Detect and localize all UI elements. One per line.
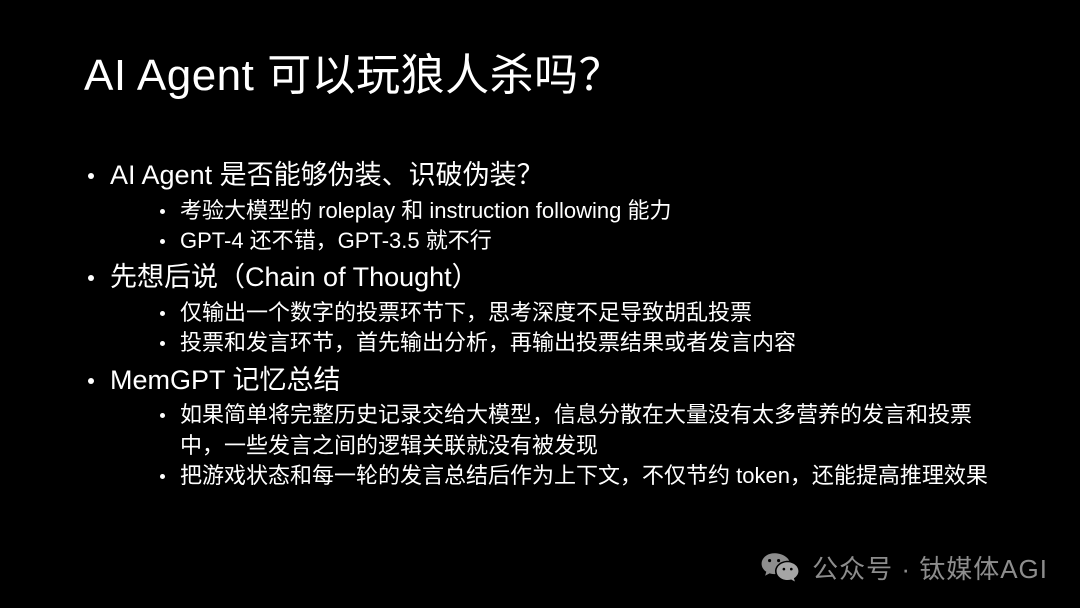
sub-bullet-item: GPT-4 还不错，GPT-3.5 就不行: [154, 226, 1014, 256]
sub-bullet-item: 仅输出一个数字的投票环节下，思考深度不足导致胡乱投票: [154, 298, 1014, 328]
sub-bullet-item: 如果简单将完整历史记录交给大模型，信息分散在大量没有太多营养的发言和投票中，一些…: [154, 400, 1014, 461]
bullet-text: MemGPT 记忆总结: [110, 363, 1014, 399]
sub-bullet-item: 把游戏状态和每一轮的发言总结后作为上下文，不仅节约 token，还能提高推理效果: [154, 461, 1014, 491]
bullet-item-2: 先想后说（Chain of Thought） 仅输出一个数字的投票环节下，思考深…: [84, 260, 1014, 358]
bullet-item-3: MemGPT 记忆总结 如果简单将完整历史记录交给大模型，信息分散在大量没有太多…: [84, 363, 1014, 492]
bullet-text: AI Agent 是否能够伪装、识破伪装？: [110, 158, 1014, 194]
sub-bullet-group-2: 仅输出一个数字的投票环节下，思考深度不足导致胡乱投票 投票和发言环节，首先输出分…: [110, 298, 1014, 359]
bullet-item-1: AI Agent 是否能够伪装、识破伪装？ 考验大模型的 roleplay 和 …: [84, 158, 1014, 256]
wechat-icon: [760, 551, 800, 585]
bullet-list-level1: AI Agent 是否能够伪装、识破伪装？ 考验大模型的 roleplay 和 …: [84, 158, 1014, 491]
bullet-list-level2: 仅输出一个数字的投票环节下，思考深度不足导致胡乱投票 投票和发言环节，首先输出分…: [154, 298, 1014, 359]
bullet-list-level2: 如果简单将完整历史记录交给大模型，信息分散在大量没有太多营养的发言和投票中，一些…: [154, 400, 1014, 491]
slide-canvas: AI Agent 可以玩狼人杀吗？ AI Agent 是否能够伪装、识破伪装？ …: [0, 0, 1080, 608]
sub-bullet-item: 考验大模型的 roleplay 和 instruction following …: [154, 196, 1014, 226]
watermark: 公众号 · 钛媒体AGI: [760, 549, 1048, 586]
bullet-text: 先想后说（Chain of Thought）: [110, 260, 1014, 296]
slide-title: AI Agent 可以玩狼人杀吗？: [84, 50, 623, 103]
sub-bullet-item: 投票和发言环节，首先输出分析，再输出投票结果或者发言内容: [154, 328, 1014, 358]
watermark-text: 公众号 · 钛媒体AGI: [812, 549, 1048, 586]
slide-body: AI Agent 是否能够伪装、识破伪装？ 考验大模型的 roleplay 和 …: [84, 158, 1014, 495]
sub-bullet-group-1: 考验大模型的 roleplay 和 instruction following …: [110, 196, 1014, 257]
sub-bullet-group-3: 如果简单将完整历史记录交给大模型，信息分散在大量没有太多营养的发言和投票中，一些…: [110, 400, 1014, 491]
bullet-list-level2: 考验大模型的 roleplay 和 instruction following …: [154, 196, 1014, 257]
